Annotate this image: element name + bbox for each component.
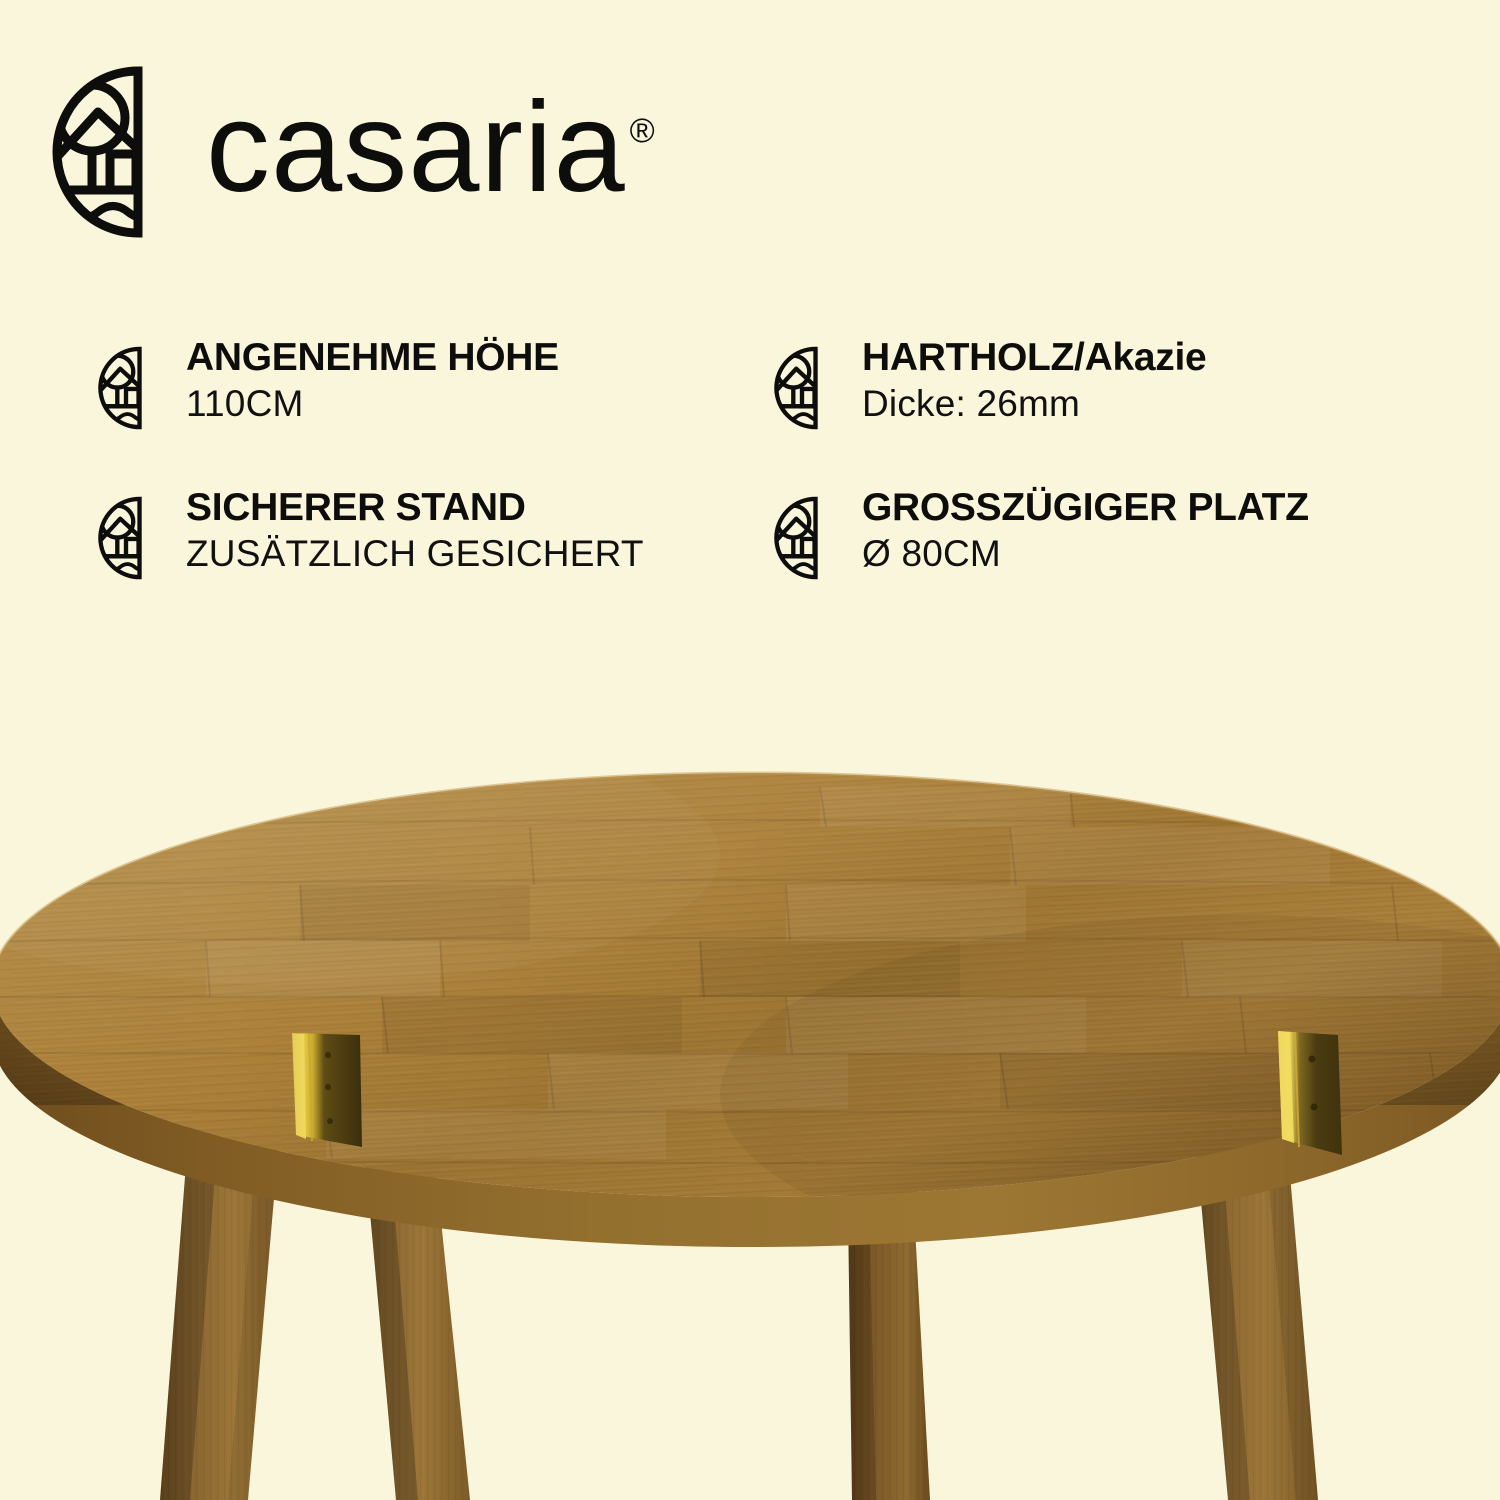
feature-text-block: GROSSZÜGIGER PLATZ Ø 80CM — [862, 488, 1309, 574]
brass-hinge-left — [292, 1033, 362, 1147]
table-illustration — [0, 735, 1500, 1500]
feature-item-material: HARTHOLZ/Akazie Dicke: 26mm — [774, 338, 1438, 488]
brand-name: casaria — [206, 84, 626, 212]
feature-grid: ANGENEHME HÖHE 110CM HARTHOLZ/Akazie Dic… — [98, 338, 1438, 638]
feature-title: HARTHOLZ/Akazie — [862, 338, 1206, 378]
casaria-house-landscape-icon — [98, 344, 154, 432]
feature-item-height: ANGENEHME HÖHE 110CM — [98, 338, 774, 488]
brand-wordmark-group: casaria ® — [206, 88, 655, 216]
feature-subtitle: Ø 80CM — [862, 533, 1309, 574]
feature-text-block: SICHERER STAND ZUSÄTZLICH GESICHERT — [186, 488, 644, 574]
casaria-house-landscape-icon — [98, 494, 154, 582]
feature-title: ANGENEHME HÖHE — [186, 338, 559, 378]
casaria-house-landscape-icon — [52, 66, 168, 238]
casaria-house-landscape-icon — [774, 494, 830, 582]
feature-title: SICHERER STAND — [186, 488, 644, 528]
feature-text-block: ANGENEHME HÖHE 110CM — [186, 338, 559, 424]
registered-trademark-symbol: ® — [630, 114, 655, 148]
feature-subtitle: 110CM — [186, 383, 559, 424]
product-feature-card: casaria ® ANGENEHME HÖHE 110CM — [0, 0, 1500, 1500]
feature-subtitle: Dicke: 26mm — [862, 383, 1206, 424]
feature-text-block: HARTHOLZ/Akazie Dicke: 26mm — [862, 338, 1206, 424]
feature-item-stability: SICHERER STAND ZUSÄTZLICH GESICHERT — [98, 488, 774, 638]
feature-subtitle: ZUSÄTZLICH GESICHERT — [186, 533, 644, 574]
casaria-house-landscape-icon — [774, 344, 830, 432]
brass-hinge-right — [1278, 1031, 1342, 1155]
feature-title: GROSSZÜGIGER PLATZ — [862, 488, 1309, 528]
brand-header: casaria ® — [52, 62, 655, 242]
feature-item-space: GROSSZÜGIGER PLATZ Ø 80CM — [774, 488, 1438, 638]
round-acacia-bar-table-photo — [0, 735, 1500, 1500]
